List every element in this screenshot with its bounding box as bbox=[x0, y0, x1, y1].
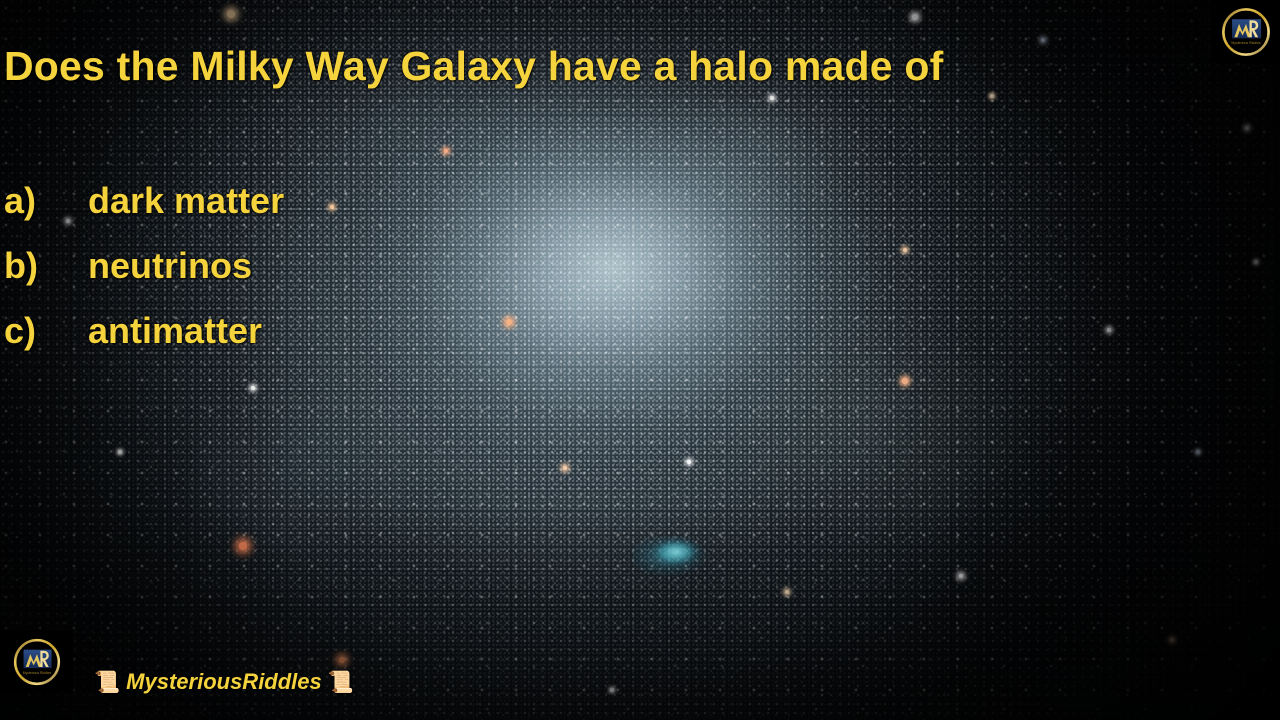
quiz-slide: Does the Milky Way Galaxy have a halo ma… bbox=[0, 0, 1280, 720]
cyan-star-cluster bbox=[632, 528, 724, 584]
svg-text:Mysterious Riddles: Mysterious Riddles bbox=[22, 671, 51, 675]
background-star bbox=[118, 450, 122, 454]
option-b-label: neutrinos bbox=[88, 245, 252, 287]
answer-option-a[interactable]: a) dark matter bbox=[4, 180, 644, 245]
background-star bbox=[1254, 260, 1258, 264]
background-star bbox=[912, 14, 917, 19]
background-star bbox=[959, 574, 964, 579]
answer-option-b[interactable]: b) neutrinos bbox=[4, 245, 644, 310]
answer-option-c[interactable]: c) antimatter bbox=[4, 310, 644, 375]
question-title: Does the Milky Way Galaxy have a halo ma… bbox=[4, 44, 1164, 90]
channel-watermark: 📜 MysteriousRiddles 📜 bbox=[94, 669, 354, 695]
background-star bbox=[990, 94, 994, 98]
svg-text:Mysterious Riddles: Mysterious Riddles bbox=[1231, 41, 1261, 45]
background-star bbox=[687, 460, 691, 464]
background-star bbox=[1041, 38, 1045, 42]
background-star bbox=[902, 378, 907, 383]
scroll-icon: 📜 bbox=[328, 672, 354, 693]
mr-monogram-icon: Mysterious Riddles bbox=[1217, 3, 1275, 61]
channel-logo-bottom-left[interactable]: Mysterious Riddles bbox=[0, 631, 73, 693]
background-star bbox=[903, 248, 907, 252]
background-star bbox=[1245, 126, 1249, 130]
background-star bbox=[339, 657, 345, 663]
channel-logo-top-right[interactable]: Mysterious Riddles bbox=[1211, 0, 1280, 63]
background-star bbox=[785, 590, 789, 594]
background-star bbox=[251, 386, 255, 390]
background-star bbox=[239, 542, 246, 549]
answer-options-list: a) dark matter b) neutrinos c) antimatte… bbox=[4, 180, 644, 375]
background-star bbox=[1170, 638, 1174, 642]
option-a-label: dark matter bbox=[88, 180, 284, 222]
option-c-key: c) bbox=[4, 310, 88, 352]
option-b-key: b) bbox=[4, 245, 88, 287]
background-star bbox=[444, 149, 449, 154]
scroll-icon: 📜 bbox=[94, 672, 120, 693]
background-star bbox=[770, 96, 774, 100]
background-star bbox=[227, 10, 235, 18]
background-star bbox=[563, 466, 568, 471]
option-c-label: antimatter bbox=[88, 310, 262, 352]
mr-monogram-icon: Mysterious Riddles bbox=[9, 634, 65, 690]
background-star bbox=[1196, 450, 1200, 454]
background-star bbox=[1107, 328, 1111, 332]
option-a-key: a) bbox=[4, 180, 88, 222]
watermark-text: MysteriousRiddles bbox=[126, 669, 322, 695]
background-star bbox=[610, 688, 614, 692]
